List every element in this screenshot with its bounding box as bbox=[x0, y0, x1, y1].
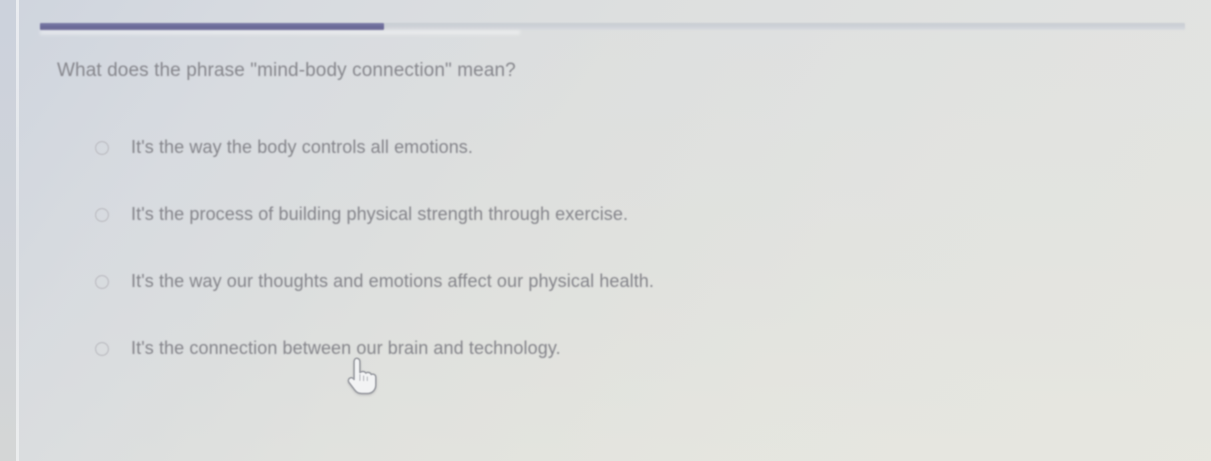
quiz-screen: What does the phrase "mind-body connecti… bbox=[0, 0, 1211, 461]
content-edge-seam bbox=[16, 0, 19, 461]
radio-button-icon-a[interactable] bbox=[95, 141, 109, 155]
answer-option-b[interactable]: It's the process of building physical st… bbox=[95, 203, 1155, 270]
radio-button-icon-b[interactable] bbox=[95, 208, 109, 222]
left-edge-band bbox=[0, 0, 16, 461]
answer-option-label-b[interactable]: It's the process of building physical st… bbox=[131, 203, 628, 225]
radio-button-icon-d[interactable] bbox=[95, 342, 109, 356]
answer-option-label-a[interactable]: It's the way the body controls all emoti… bbox=[131, 136, 473, 158]
answer-option-a[interactable]: It's the way the body controls all emoti… bbox=[95, 136, 1155, 203]
answer-option-label-c[interactable]: It's the way our thoughts and emotions a… bbox=[131, 270, 654, 292]
answer-options-list: It's the way the body controls all emoti… bbox=[95, 136, 1155, 404]
answer-option-c[interactable]: It's the way our thoughts and emotions a… bbox=[95, 270, 1155, 337]
answer-option-d[interactable]: It's the connection between our brain an… bbox=[95, 337, 1155, 404]
progress-fill bbox=[40, 23, 384, 30]
pointing-hand-cursor bbox=[344, 356, 378, 396]
progress-glow bbox=[40, 31, 520, 36]
quiz-progress-bar bbox=[40, 23, 1185, 30]
radio-button-icon-c[interactable] bbox=[95, 275, 109, 289]
question-text: What does the phrase "mind-body connecti… bbox=[57, 59, 516, 83]
